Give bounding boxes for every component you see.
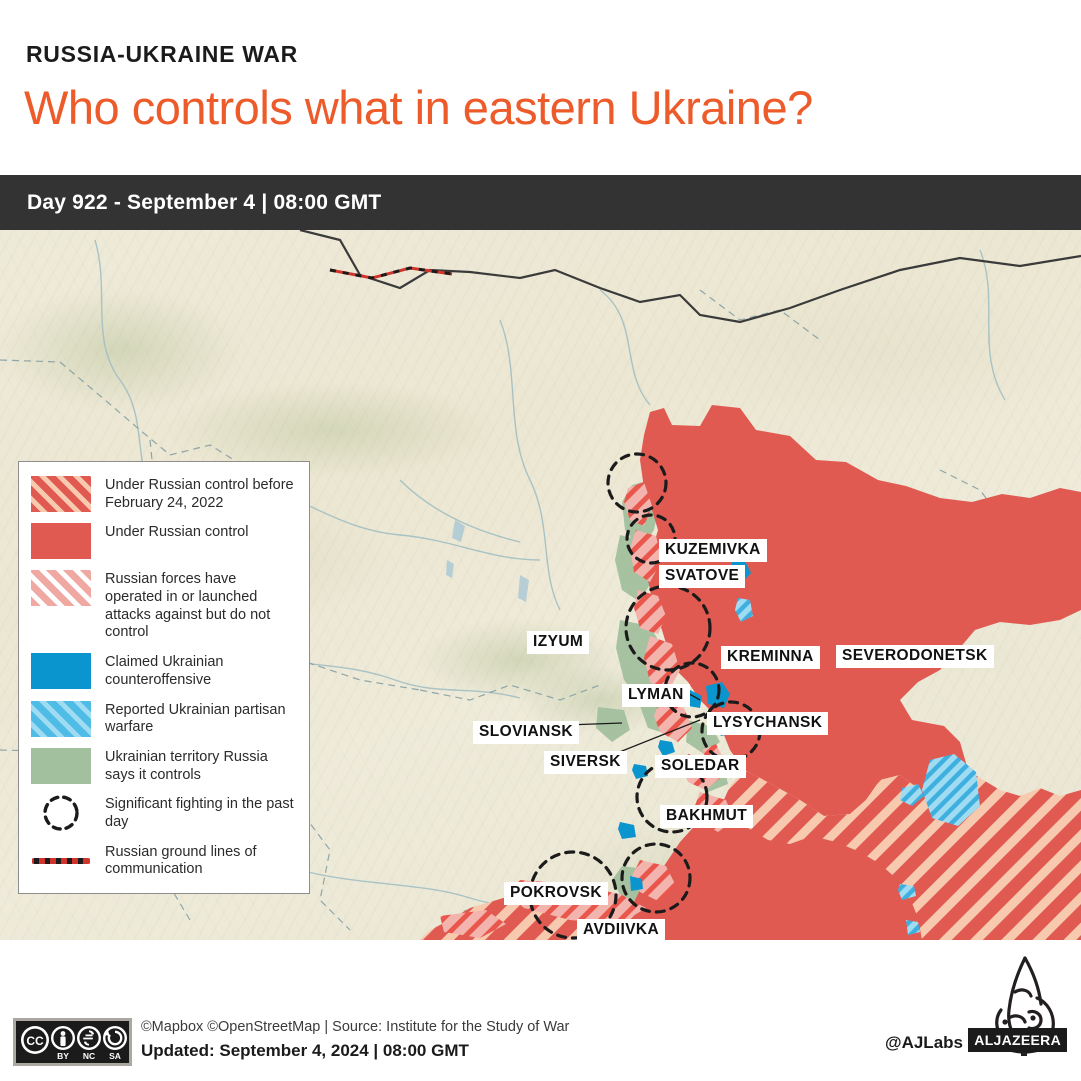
cc-badge-by: BY [57, 1051, 69, 1061]
map-legend: Under Russian control before February 24… [18, 461, 310, 894]
kicker-text: RUSSIA-UKRAINE WAR [26, 41, 298, 68]
city-label-kuzemivka[interactable]: KUZEMIVKA [659, 539, 767, 562]
legend-label-counteroffensive: Claimed Ukrainian counteroffensive [105, 653, 297, 689]
city-label-svatove[interactable]: SVATOVE [659, 565, 745, 588]
infographic-page: RUSSIA-UKRAINE WAR Who controls what in … [0, 0, 1081, 1081]
page-title: Who controls what in eastern Ukraine? [24, 80, 813, 135]
legend-swatch-prewar-hatch [31, 476, 91, 512]
header: RUSSIA-UKRAINE WAR Who controls what in … [0, 0, 1081, 175]
day-bar: Day 922 - September 4 | 08:00 GMT [0, 175, 1081, 230]
legend-swatch-counteroffensive [31, 653, 91, 689]
city-label-lysychansk[interactable]: LYSYCHANSK [707, 712, 828, 735]
city-label-pokrovsk[interactable]: POKROVSK [504, 882, 608, 905]
city-label-lyman[interactable]: LYMAN [622, 684, 690, 707]
legend-label-partisan: Reported Ukrainian partisan warfare [105, 701, 297, 737]
city-label-soledar[interactable]: SOLEDAR [655, 755, 746, 778]
aljazeera-wordmark: ALJAZEERA [968, 1028, 1067, 1052]
legend-swatch-partisan-hatch [31, 701, 91, 737]
legend-swatch-claimed-green [31, 748, 91, 784]
city-label-siversk[interactable]: SIVERSK [544, 751, 627, 774]
city-label-bakhmut[interactable]: BAKHMUT [660, 805, 753, 828]
legend-label-attacked: Russian forces have operated in or launc… [105, 570, 297, 642]
cc-badge-nc: NC [83, 1051, 95, 1061]
source-attribution: ©Mapbox ©OpenStreetMap | Source: Institu… [141, 1019, 569, 1035]
city-label-izyum[interactable]: IZYUM [527, 631, 589, 654]
legend-label-claimed-green: Ukrainian territory Russia says it contr… [105, 748, 297, 784]
legend-item-prewar: Under Russian control before February 24… [31, 476, 297, 512]
city-label-sloviansk[interactable]: SLOVIANSK [473, 721, 579, 744]
legend-swatch-red-dashed-line [31, 843, 91, 879]
city-label-severodonetsk[interactable]: SEVERODONETSK [836, 645, 994, 668]
legend-item-partisan: Reported Ukrainian partisan warfare [31, 701, 297, 737]
legend-item-attacked: Russian forces have operated in or launc… [31, 570, 297, 642]
ajlabs-handle: @AJLabs [885, 1033, 963, 1053]
legend-item-russian-control: Under Russian control [31, 523, 297, 559]
map-canvas[interactable]: KUZEMIVKASVATOVEIZYUMKREMINNASEVERODONET… [0, 230, 1081, 940]
svg-text:CC: CC [26, 1034, 44, 1048]
city-label-kreminna[interactable]: KREMINNA [721, 646, 820, 669]
creative-commons-badge: CC BY NC SA [13, 1018, 132, 1066]
legend-item-counteroffensive: Claimed Ukrainian counteroffensive [31, 653, 297, 689]
legend-item-fighting: Significant fighting in the past day [31, 795, 297, 831]
cc-badge-sa: SA [109, 1051, 121, 1061]
dashed-circle-icon [39, 794, 83, 832]
red-dashed-line-icon [32, 854, 90, 868]
day-bar-text: Day 922 - September 4 | 08:00 GMT [27, 191, 381, 215]
city-label-avdiivka[interactable]: AVDIIVKA [577, 919, 665, 940]
updated-timestamp: Updated: September 4, 2024 | 08:00 GMT [141, 1041, 469, 1061]
legend-label-fighting: Significant fighting in the past day [105, 795, 297, 831]
legend-swatch-dashed-circle [31, 795, 91, 831]
legend-item-glc: Russian ground lines of communication [31, 843, 297, 879]
legend-label-prewar: Under Russian control before February 24… [105, 476, 297, 512]
legend-label-glc: Russian ground lines of communication [105, 843, 297, 879]
legend-swatch-attacked-hatch [31, 570, 91, 606]
legend-item-claimed-green: Ukrainian territory Russia says it contr… [31, 748, 297, 784]
legend-swatch-russian-control [31, 523, 91, 559]
legend-label-russian-control: Under Russian control [105, 523, 248, 542]
